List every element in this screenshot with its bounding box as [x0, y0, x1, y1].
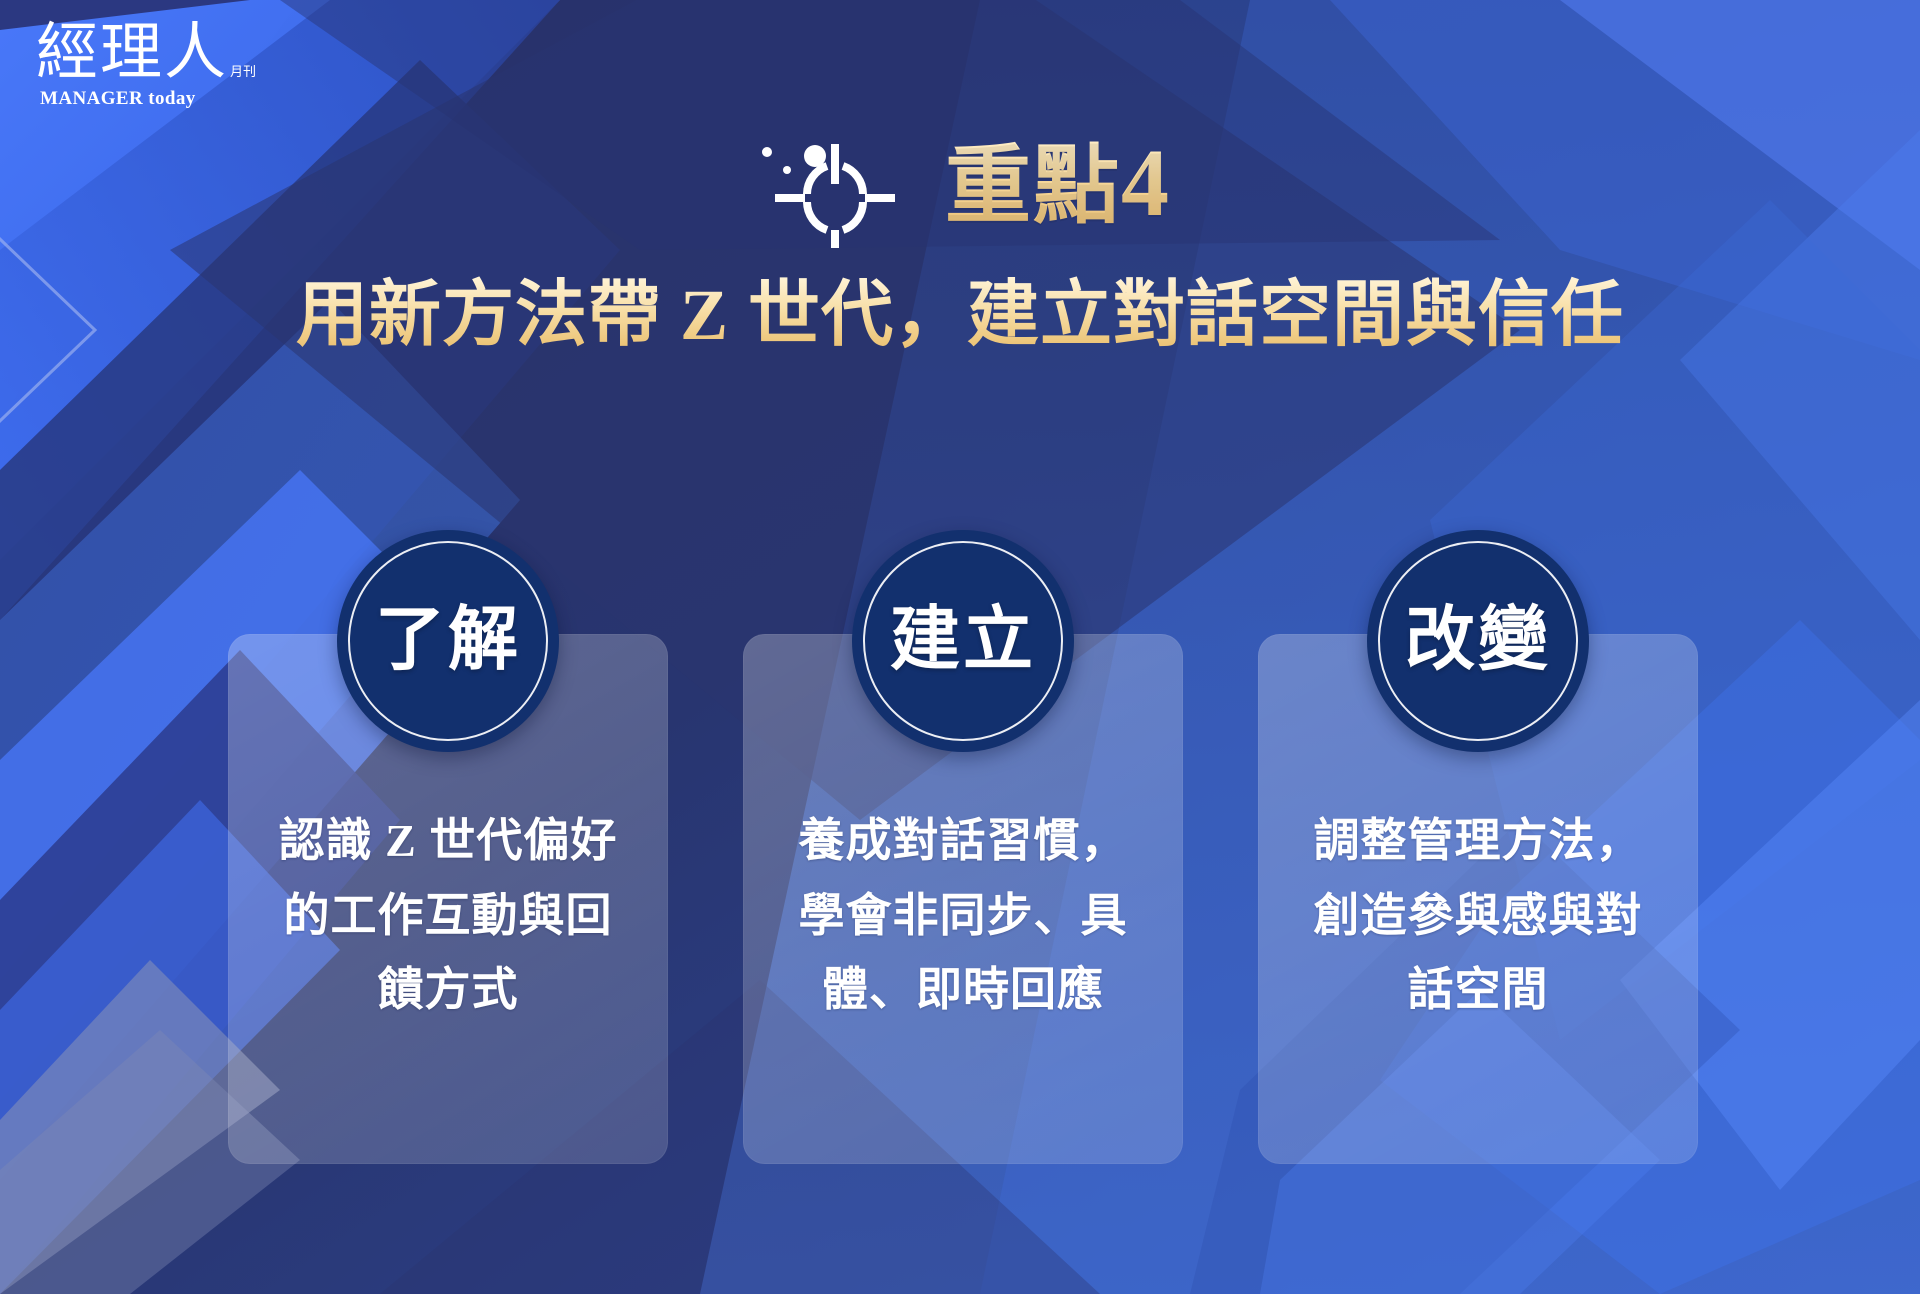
brand-name-cn-text: 經理人: [36, 22, 228, 84]
card-text-line: 認識 Z 世代偏好: [228, 804, 668, 879]
crosshair-target-icon: [749, 118, 919, 248]
badge-circle-understand: 了解: [337, 530, 559, 752]
card-text-line: 體、即時回應: [743, 953, 1183, 1028]
card-text-line: 話空間: [1258, 953, 1698, 1028]
card-text-line: 養成對話習慣，: [743, 804, 1183, 879]
brand-name-en: MANAGER today: [40, 88, 266, 110]
card-body-text: 調整管理方法， 創造參與感與對 話空間: [1258, 804, 1698, 1028]
kicker-number: 4: [1121, 129, 1171, 236]
badge-label: 了解: [375, 606, 521, 676]
card-text-line: 學會非同步、具: [743, 879, 1183, 954]
card-change[interactable]: 改變 調整管理方法， 創造參與感與對 話空間: [1258, 634, 1698, 1164]
card-text-line: 的工作互動與回: [228, 879, 668, 954]
kicker-label: 重點: [945, 138, 1121, 234]
card-understand[interactable]: 了解 認識 Z 世代偏好 的工作互動與回 饋方式: [228, 634, 668, 1164]
card-list: 了解 認識 Z 世代偏好 的工作互動與回 饋方式 建立 養成對話習慣， 學會非同…: [228, 634, 1698, 1164]
brand-name-cn: 經理人 月刊: [36, 22, 266, 84]
crosshair-target-glyph: [749, 118, 919, 248]
badge-circle-change: 改變: [1367, 530, 1589, 752]
card-body-text: 認識 Z 世代偏好 的工作互動與回 饋方式: [228, 804, 668, 1028]
kicker-header: 重點4: [0, 118, 1920, 248]
page-title: 用新方法帶 Z 世代，建立對話空間與信任: [0, 276, 1920, 355]
badge-circle-build: 建立: [852, 530, 1074, 752]
card-text-line: 調整管理方法，: [1258, 804, 1698, 879]
brand-logo: 經理人 月刊 MANAGER today: [36, 22, 266, 110]
card-text-line: 饋方式: [228, 953, 668, 1028]
kicker-title: 重點4: [945, 135, 1171, 231]
brand-superscript: 月刊: [230, 65, 256, 78]
badge-label: 建立: [890, 606, 1036, 676]
infographic-slide: 經理人 月刊 MANAGER today: [0, 0, 1920, 1294]
card-build[interactable]: 建立 養成對話習慣， 學會非同步、具 體、即時回應: [743, 634, 1183, 1164]
badge-label: 改變: [1405, 606, 1551, 676]
card-text-line: 創造參與感與對: [1258, 879, 1698, 954]
card-body-text: 養成對話習慣， 學會非同步、具 體、即時回應: [743, 804, 1183, 1028]
